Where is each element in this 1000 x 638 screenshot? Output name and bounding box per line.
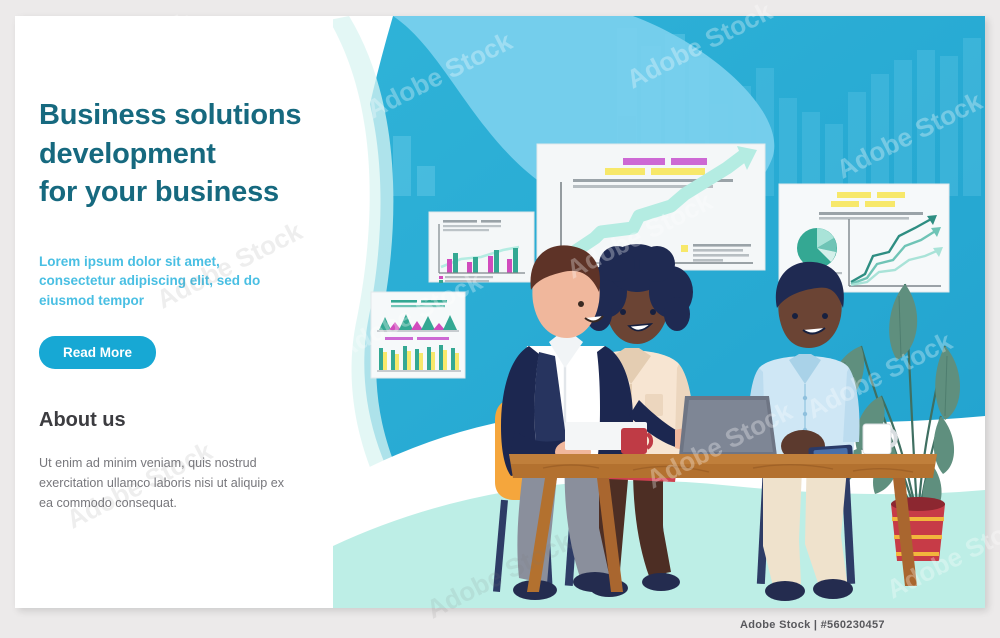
headline-line-2: development	[39, 135, 359, 174]
headline-line-3: for your business	[39, 173, 359, 212]
headline-line-1: Business solutions	[39, 96, 359, 135]
illustration-svg	[333, 16, 985, 608]
hero-illustration	[333, 16, 985, 608]
about-us-body: Ut enim ad minim veniam, quis nostrud ex…	[39, 454, 287, 514]
hero-subcopy: Lorem ipsum dolor sit amet, consectetur …	[39, 252, 294, 311]
poster-pie-chart	[797, 228, 837, 268]
landing-page-canvas: Business solutions development for your …	[15, 16, 985, 608]
page-title: Business solutions development for your …	[39, 96, 359, 212]
hero-text-column: Business solutions development for your …	[39, 96, 359, 514]
shoe-right	[813, 579, 853, 599]
read-more-button[interactable]: Read More	[39, 336, 156, 369]
about-us-heading: About us	[39, 409, 359, 432]
white-mug	[863, 424, 896, 454]
red-mug	[621, 428, 651, 454]
watermark-bottom-label: Adobe Stock | #560230457	[740, 619, 885, 631]
shoe-left	[765, 581, 805, 601]
screenshot-stage: Business solutions development for your …	[0, 0, 1000, 638]
wall-poster-lower-left	[371, 292, 465, 378]
wall-poster-upper-left	[429, 212, 534, 283]
laptop	[675, 396, 781, 460]
